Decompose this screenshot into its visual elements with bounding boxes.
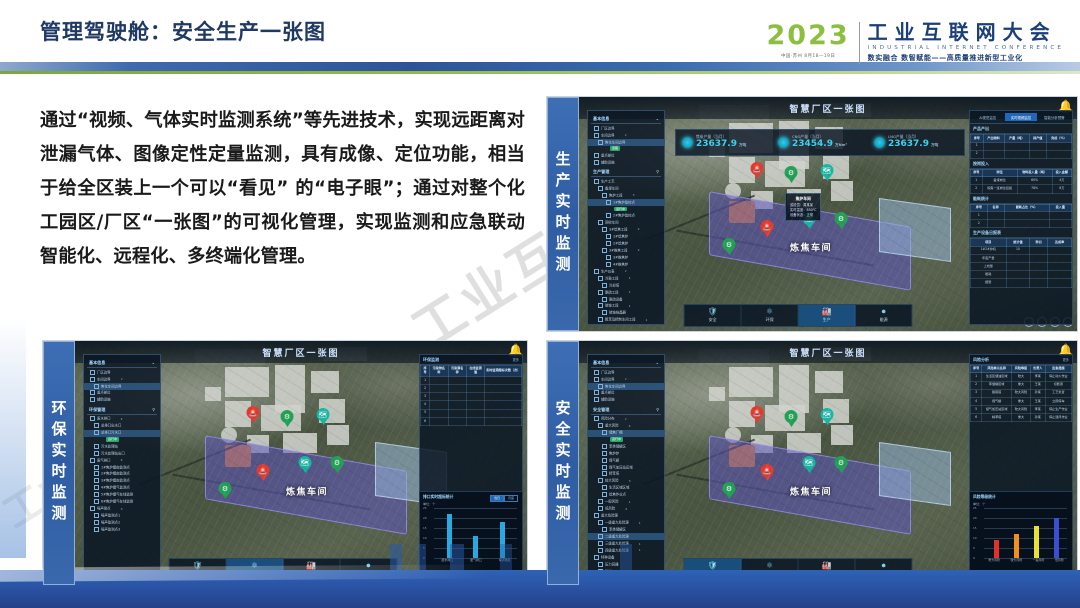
nav-item-环保[interactable]: ⚛环保 (742, 305, 799, 326)
tree-item-label: 粗苯及精制车间工段 (605, 318, 636, 322)
table-row[interactable]: 3 (421, 393, 522, 401)
panel-vertical-label: 生产实时监测 (547, 97, 579, 331)
checkbox-icon[interactable] (598, 506, 603, 511)
checkbox-icon[interactable] (598, 186, 603, 191)
checkbox-icon[interactable] (598, 384, 603, 389)
data-table: 序号污染物名称污染源名称在线监测值实时监测超标次数（次）123456 (420, 365, 522, 426)
tree-sidebar[interactable]: 基本信息⌄厂区边界车间边界∨焦化车间边界道路重点部位辅助设施生产管理⚲生产工艺备… (587, 110, 665, 325)
table-cell (1030, 254, 1048, 262)
map-marker-green[interactable]: ⚙ (835, 456, 848, 473)
checkbox-icon[interactable] (94, 444, 99, 449)
table-column-header: 昨日 (1030, 239, 1048, 246)
table-cell (987, 211, 1004, 219)
checkbox-icon[interactable] (602, 324, 607, 325)
tree-item[interactable]: 风险分布∨ (588, 416, 664, 423)
tree-item[interactable]: 冷却塔 (588, 282, 664, 289)
tree-item-label: 辅助设施 (97, 398, 111, 402)
tree-item[interactable]: 一级重大危险源1 (588, 520, 664, 527)
tree-item[interactable]: 辅助设施 (84, 397, 160, 404)
tree-item[interactable]: 1#熄焦炉 (588, 233, 664, 240)
checkbox-icon[interactable] (606, 241, 611, 246)
checkbox-icon[interactable] (598, 478, 603, 483)
tree-item[interactable]: 噪声测点3 (84, 506, 160, 513)
table-row[interactable]: 3脱硫塔较大风险孙某工艺处置 (971, 389, 1072, 397)
tree-item-label: 车间边界 (97, 377, 111, 381)
tree-item[interactable]: 苯类储罐区 (588, 527, 664, 534)
table-row[interactable]: 2 (971, 220, 1072, 228)
map-marker-icon: 🚨 (751, 162, 764, 175)
table-row[interactable]: 5 (421, 409, 522, 417)
table-row[interactable]: 1生活区储油区域较大李某停止动火作业 (971, 373, 1072, 381)
tree-item[interactable]: 2#焦炉监控点 (588, 212, 664, 219)
map-marker-green[interactable]: ⚙ (723, 482, 736, 499)
checkbox-icon[interactable] (594, 153, 599, 158)
map-marker-icon: 🗺 (299, 456, 312, 469)
tree-item[interactable]: 苯类储罐区 (588, 443, 664, 450)
table-cell (448, 376, 466, 384)
table-row[interactable]: 年度产量 (971, 254, 1072, 262)
tree-item-count: 1 (627, 276, 633, 281)
table-row[interactable]: 5煤气加压站区域较大风险李某停止生产作业 (971, 406, 1072, 414)
checkbox-icon[interactable] (594, 126, 599, 131)
nav-item-label: 安全 (709, 317, 717, 323)
chart-y-tick: 15 (973, 526, 977, 530)
kpi-value: 23454.9万Nm³ (792, 140, 847, 150)
map-marker-red[interactable]: 🚨 (247, 406, 260, 423)
panel-tab[interactable]: 实时视频监控 (1005, 113, 1036, 121)
tree-item[interactable]: 重大危险源 (588, 513, 664, 520)
kpi-card[interactable]: CNG产量（当月）23454.9万Nm³ (772, 135, 868, 149)
kpi-strip: 焦炭产量（当月）23637.9万吨CNG产量（当月）23454.9万Nm³LNG… (675, 129, 965, 156)
tree-item[interactable]: 6#焦炉烟气在线监测 (84, 499, 160, 506)
map-marker-green[interactable]: ⚙ (723, 238, 736, 255)
checkbox-icon[interactable] (94, 485, 99, 490)
tree-item[interactable]: 重点部位 (588, 152, 664, 159)
checkbox-icon[interactable] (606, 213, 611, 218)
tree-item[interactable]: 2#熄焦炉 (588, 240, 664, 247)
checkbox-icon[interactable] (602, 458, 607, 463)
checkbox-icon[interactable] (594, 416, 599, 421)
chart-plot-area: 0510152025 (973, 508, 1069, 558)
tree-item[interactable]: 低风险4 (588, 506, 664, 513)
table-column-header: 项目 (971, 239, 1007, 246)
tree-item[interactable]: 噪声监测点2 (84, 520, 160, 527)
chart-unit-label: 单位：个 (423, 501, 519, 506)
checkbox-icon[interactable] (598, 423, 603, 428)
tree-item-label: 车间边界 (601, 133, 615, 137)
checkbox-icon[interactable] (606, 262, 611, 267)
table-row[interactable]: 4煤气罐重大王某立即停车 (971, 397, 1072, 405)
map-marker-green[interactable]: ⚙ (331, 456, 344, 473)
tree-item-label: 车间边界 (601, 377, 615, 381)
tree-item[interactable]: 煤气罐 (588, 457, 664, 464)
tree-item-label: 低风险 (605, 507, 615, 511)
tree-item-label: 重大风险 (605, 424, 619, 428)
table-column-header: 序号 (971, 135, 984, 142)
more-link[interactable]: 更多 (1063, 357, 1069, 362)
bottom-nav[interactable]: 🛡安全⚛环保🏭生产⏺能源 (684, 304, 913, 327)
checkbox-icon[interactable] (94, 465, 99, 470)
tree-item-count: 2 (636, 248, 642, 253)
tree-item[interactable]: 4#焦炉烟气监测点 (84, 485, 160, 492)
search-icon[interactable]: ⚲ (656, 407, 659, 413)
table-row[interactable]: 能耗 (971, 271, 1072, 279)
checkbox-icon[interactable] (90, 370, 95, 375)
table-row[interactable]: 1#2#炉机10 (971, 246, 1072, 254)
tree-item[interactable]: 焦化车间边界 (588, 139, 664, 146)
tree-sidebar[interactable]: 基本信息⌄厂区边界车间边界∨焦化车间边界重点部位辅助设施环保管理⚲废水排口4总排… (83, 354, 161, 579)
tree-item[interactable]: 备煤车间 (588, 185, 664, 192)
tree-item-label: 污水处理站 (101, 444, 118, 448)
table-cell: 4万 (1052, 177, 1071, 185)
tree-item[interactable]: 4#推焦炉 (588, 261, 664, 268)
tree-item[interactable]: 冷鼓工段1 (588, 275, 664, 282)
tree-item[interactable]: 脱硫设备 (588, 296, 664, 303)
checkbox-icon[interactable] (594, 397, 599, 402)
tree-item[interactable]: 二级重大危险源 (588, 533, 664, 540)
tree-item[interactable]: 辅助设施 (588, 159, 664, 166)
tree-item-label: 备煤车间 (605, 186, 619, 190)
map-marker-teal[interactable]: 🗺 (803, 212, 816, 229)
checkbox-icon[interactable] (94, 513, 99, 518)
map-marker-icon: ⚙ (785, 166, 798, 179)
table-cell: 王某 (1030, 381, 1045, 389)
tree-item[interactable]: 一般风险1 (588, 499, 664, 506)
table-section-title: 产品产出 (970, 124, 1072, 134)
data-table: 项目统计值昨日达成率1#2#炉机10年度产量上线量能耗报警 (970, 238, 1072, 287)
panel-tab[interactable]: AI视觉监控 (972, 113, 1003, 121)
tree-item[interactable]: 总排口污水口 (84, 430, 160, 437)
table-row[interactable]: 上线量 (971, 263, 1072, 271)
nav-item-生产[interactable]: 🏭生产 (799, 305, 856, 326)
chart-bar[interactable] (1054, 518, 1059, 558)
tree-item[interactable]: 污水处理站出口 (84, 450, 160, 457)
checkbox-icon[interactable] (594, 370, 599, 375)
checkbox-icon[interactable] (90, 506, 95, 511)
checkbox-icon[interactable] (598, 140, 603, 145)
tree-item[interactable]: 焦炉炉 (588, 450, 664, 457)
tree-item-label: 总排口出水口 (101, 424, 121, 428)
checkbox-icon[interactable] (90, 416, 95, 421)
table-cell (485, 401, 522, 409)
table-cell: 1 (421, 376, 430, 384)
chart-bar[interactable] (1034, 526, 1039, 558)
table-cell: 煤气罐 (982, 397, 1012, 405)
tree-item[interactable]: 废气排口4 (84, 457, 160, 464)
checkbox-icon[interactable] (594, 133, 599, 138)
layers-icon (874, 137, 885, 148)
checkbox-icon[interactable] (602, 527, 607, 532)
tooltip-title: 焦炉车间 (790, 196, 816, 202)
tree-item[interactable]: 储焦厂棚 (588, 430, 664, 437)
chart-y-tick: 0 (973, 556, 975, 560)
tree-item[interactable]: 焦炉工段3 (588, 192, 664, 199)
tree-item[interactable]: 废水排口4 (84, 416, 160, 423)
checkbox-icon[interactable] (598, 534, 603, 539)
checkbox-icon[interactable] (94, 478, 99, 483)
map-marker-red[interactable]: 🚨 (751, 406, 764, 423)
tree-item-count: 4 (623, 507, 629, 512)
tree-item-label: 总排口污水口 (101, 431, 121, 435)
right-data-panel[interactable]: AI视觉监控实时视频监控智能分析预警产品产出序号产出物料产量（吨）排产值完成（%… (969, 110, 1073, 325)
table-row[interactable]: 2 (971, 150, 1072, 158)
tree-item[interactable]: 1#焦炉烟囱监测点 (84, 464, 160, 471)
table-cell (466, 409, 484, 417)
checkbox-icon[interactable] (90, 397, 95, 402)
nav-item-安全[interactable]: 🛡安全 (685, 305, 742, 326)
table-cell: 4 (421, 401, 430, 409)
map-marker-green[interactable]: ⚙ (219, 482, 232, 499)
checkbox-icon[interactable] (602, 465, 607, 470)
tree-item[interactable]: 脱硫工段1 (588, 289, 664, 296)
tree-item[interactable]: 煤气加压站区域 (588, 464, 664, 471)
tree-item[interactable]: 焦化车间边界 (84, 383, 160, 390)
checkbox-icon[interactable] (94, 471, 99, 476)
table-cell: 6万 (1052, 185, 1071, 193)
chart-range-toggle[interactable]: 当日月度 (490, 495, 518, 502)
checkbox-icon[interactable] (602, 310, 607, 315)
checkbox-icon[interactable] (598, 303, 603, 308)
map-marker-icon: 🗺 (803, 212, 816, 225)
checkbox-icon[interactable] (90, 377, 95, 382)
chart-title: 风险等级统计 (973, 494, 1069, 500)
checkbox-icon[interactable] (602, 283, 607, 288)
checkbox-icon[interactable] (94, 520, 99, 525)
checkbox-icon[interactable] (602, 430, 607, 435)
table-cell: 2 (421, 385, 430, 393)
checkbox-icon[interactable] (598, 317, 603, 322)
table-row[interactable]: 1 (421, 376, 522, 384)
table-row[interactable]: 6 (421, 417, 522, 425)
table-cell (1048, 246, 1072, 254)
chart-y-tick: 25 (423, 506, 427, 510)
tree-item-label: 1#焦炉烟囱监测点 (101, 465, 130, 469)
table-column-header: 序号 (971, 204, 988, 211)
tree-item-count: 1 (627, 290, 633, 295)
tree-section-header: 安全管理⚲ (591, 406, 661, 415)
map-marker-green[interactable]: ⚙ (835, 212, 848, 229)
checkbox-icon[interactable] (94, 451, 99, 456)
map-marker-red[interactable]: 🚨 (751, 162, 764, 179)
table-cell: 工艺处置 (1045, 389, 1071, 397)
table-cell (1006, 271, 1030, 279)
tree-item[interactable]: 3#焦炉烟囱监测点 (84, 478, 160, 485)
checkbox-icon[interactable] (594, 179, 599, 184)
tree-item[interactable]: 生产仪表∨ (588, 268, 664, 275)
tree-item-count: 3 (631, 193, 637, 198)
chart-toggle-option[interactable]: 月度 (504, 495, 518, 502)
tree-item[interactable]: 重点部位 (84, 390, 160, 397)
checkbox-icon[interactable] (94, 423, 99, 428)
checkbox-icon[interactable] (94, 384, 99, 389)
kpi-card[interactable]: LNG产量（当月）23637.9万吨 (868, 135, 964, 149)
search-icon[interactable]: ⚲ (152, 407, 155, 413)
tree-item[interactable]: 重点部位 (588, 390, 664, 397)
table-row[interactable]: 1 (971, 211, 1072, 219)
map-marker-red[interactable]: 🚨 (257, 464, 270, 481)
panel-vertical-label: 环保实时监测 (43, 341, 75, 585)
chart-y-tick: 15 (423, 526, 427, 530)
data-table: 序号产出物料产量（吨）排产值完成（%）12 (970, 134, 1072, 159)
tree-item[interactable]: 3#熄焦工段2 (588, 226, 664, 233)
tree-item[interactable]: 生活区域区域 (588, 485, 664, 492)
tree-item[interactable]: 焦化车间边界 (588, 383, 664, 390)
tree-item[interactable]: 厂区边界 (84, 369, 160, 376)
map-marker-red[interactable]: 🚨 (761, 464, 774, 481)
checkbox-icon[interactable] (602, 444, 607, 449)
table-row[interactable]: 6精苯塔重大孙某停止通风作业 (971, 414, 1072, 422)
checkbox-icon[interactable] (94, 499, 99, 504)
checkbox-icon[interactable] (90, 390, 95, 395)
table-cell (1048, 271, 1072, 279)
tree-item[interactable]: 总排口出水口 (84, 423, 160, 430)
conference-logo: 2023 中国·苏州 8月18—19日 工业互联网大会 INDUSTRIAL I… (767, 22, 1065, 66)
checkbox-icon[interactable] (90, 458, 95, 463)
tree-item-label: 焦化车间边界 (605, 384, 625, 388)
checkbox-icon[interactable] (606, 234, 611, 239)
tree-item[interactable]: 硫铵结晶器 (588, 310, 664, 317)
table-row[interactable]: 2苯储罐区域重大王某切断源 (971, 381, 1072, 389)
checkbox-icon[interactable] (594, 390, 599, 395)
logo-name-cn: 工业互联网大会 (868, 22, 1064, 43)
checkbox-icon[interactable] (598, 290, 603, 295)
map-marker-teal[interactable]: 🗺 (299, 456, 312, 473)
tree-item-label: 较大风险 (605, 479, 619, 483)
map-marker-teal[interactable]: 🗺 (821, 164, 834, 181)
checkbox-icon[interactable] (94, 430, 99, 435)
tree-item-label: 1#熄焦炉 (613, 234, 628, 238)
chart-bar[interactable] (1014, 534, 1019, 558)
map-marker-green[interactable]: ⚙ (785, 166, 798, 183)
table-row[interactable]: 1 (971, 142, 1072, 150)
kpi-card[interactable]: 焦炭产量（当月）23637.9万吨 (676, 135, 772, 149)
table-row[interactable]: 2 (421, 385, 522, 393)
checkbox-icon[interactable] (602, 297, 607, 302)
checkbox-icon[interactable] (598, 499, 603, 504)
checkbox-icon[interactable] (94, 527, 99, 532)
tree-item[interactable]: 污水处理站 (84, 443, 160, 450)
checkbox-icon[interactable] (594, 269, 599, 274)
tree-item[interactable]: 2#焦炉烟囱监测点 (84, 471, 160, 478)
tree-item[interactable]: 车间边界∨ (588, 132, 664, 139)
table-cell: 立即停车 (1045, 397, 1071, 405)
table-cell: 2 (971, 381, 982, 389)
nav-item-能源[interactable]: ⏺能源 (856, 305, 912, 326)
tree-item[interactable]: 精苯塔 (588, 471, 664, 478)
tree-item[interactable]: 粗苯管式炉监测点 (588, 324, 664, 325)
checkbox-icon[interactable] (606, 255, 611, 260)
table-column-header: 序号 (971, 366, 982, 373)
chart-bar[interactable] (994, 540, 999, 558)
map-marker-teal[interactable]: 🗺 (317, 408, 330, 425)
tree-item[interactable]: 熄焦作业点 (588, 492, 664, 499)
table-cell: 4 (971, 397, 982, 405)
tree-item[interactable]: 厂区边界 (588, 369, 664, 376)
table-cell: 1 (971, 373, 982, 381)
tree-item[interactable]: 3#推焦炉 (588, 254, 664, 261)
search-icon[interactable]: ⚲ (656, 169, 659, 175)
checkbox-icon[interactable] (606, 200, 611, 205)
table-cell: 5 (421, 409, 430, 417)
table-row[interactable]: 报警 (971, 279, 1072, 287)
tree-item[interactable]: 较大风险3 (588, 478, 664, 485)
checkbox-icon[interactable] (594, 513, 599, 518)
checkbox-icon[interactable] (602, 193, 607, 198)
tree-item-label: 3#推焦工段 (609, 248, 628, 252)
table-cell (466, 376, 484, 384)
checkbox-icon[interactable] (94, 492, 99, 497)
checkbox-icon[interactable] (602, 485, 607, 490)
table-column-header: 风险单元名称 (982, 366, 1012, 373)
map-marker-red[interactable]: 🚨 (761, 220, 774, 237)
tree-section-title: 环保管理 (89, 407, 105, 413)
map-marker-teal[interactable]: 🗺 (803, 456, 816, 473)
tree-item[interactable]: 厂区边界 (588, 125, 664, 132)
checkbox-icon[interactable] (598, 220, 603, 225)
tree-item[interactable]: 粗苯及精制车间工段1 (588, 317, 664, 324)
tree-item[interactable]: 生产工艺 (588, 178, 664, 185)
checkbox-icon[interactable] (594, 377, 599, 382)
table-row[interactable]: 4 (421, 401, 522, 409)
checkbox-icon[interactable] (602, 227, 607, 232)
checkbox-icon[interactable] (594, 160, 599, 165)
chart-unit-label: 单位：个 (973, 501, 1069, 506)
tree-item[interactable]: 辅助设施 (588, 397, 664, 404)
chart-toggle-option[interactable]: 当日 (490, 495, 504, 502)
panel-production[interactable]: 生产实时监测炼焦车间🚨⚙🗺🚨🗺⚙⚙焦炉车间巡检员：周某某实时温度：850℃设备状… (546, 96, 1078, 332)
map-marker-green[interactable]: ⚙ (785, 410, 798, 427)
table-cell: 王某 (1030, 397, 1045, 405)
panel-tabs[interactable]: AI视觉监控实时视频监控智能分析预警 (970, 111, 1072, 124)
tree-item[interactable]: 3#推焦工段2 (588, 247, 664, 254)
tree-item[interactable]: 硫铵工段1 (588, 303, 664, 310)
table-row[interactable]: 2炼焦一班岗位班组78%6万 (971, 185, 1072, 193)
table-cell: 脱硫塔 (982, 389, 1012, 397)
tree-item[interactable]: 车间边界∨ (588, 376, 664, 383)
tree-item[interactable]: 1#焦炉监控点 (588, 199, 664, 206)
tree-item[interactable]: 噪声监测点3 (84, 527, 160, 534)
tooltip-line: 设备状态：正常 (790, 213, 816, 218)
dashboard-content[interactable]: 炼焦车间🚨⚙🗺🚨🗺⚙⚙焦炉车间巡检员：周某某实时温度：850℃设备状态：正常智慧… (579, 97, 1077, 331)
tree-item[interactable]: 回收车间 (588, 219, 664, 226)
tree-item-label: 冷却塔 (609, 283, 619, 287)
chevron-down-icon: ⌄ (656, 360, 659, 366)
tree-section-header: 生产管理⚲ (591, 168, 661, 177)
tree-item-label: 焦炉工段 (609, 193, 623, 197)
checkbox-icon[interactable] (602, 471, 607, 476)
checkbox-icon[interactable] (598, 276, 603, 281)
map-marker-teal[interactable]: 🗺 (821, 408, 834, 425)
chart-y-tick: 10 (423, 536, 427, 540)
tree-item[interactable]: 重大风险4 (588, 423, 664, 430)
checkbox-icon[interactable] (598, 520, 603, 525)
table-cell: 炼焦一班岗位班组 (982, 185, 1017, 193)
tree-item-label: 6#焦炉烟气在线监测 (101, 500, 133, 504)
more-link[interactable]: 更多 (513, 357, 519, 362)
checkbox-icon[interactable] (602, 451, 607, 456)
table-row[interactable]: 1备煤岗位60%4万 (971, 177, 1072, 185)
tree-item[interactable]: 噪声监测点1 (84, 513, 160, 520)
tree-item[interactable]: 5#焦炉烟气在线监测 (84, 492, 160, 499)
checkbox-icon[interactable] (602, 492, 607, 497)
table-cell: 较大风险 (1012, 406, 1031, 414)
table-column-header: 投入金额 (1052, 169, 1071, 176)
map-marker-green[interactable]: ⚙ (281, 410, 294, 427)
zone-label: 炼焦车间 (790, 485, 832, 498)
tree-item[interactable]: 车间边界∨ (84, 376, 160, 383)
panel-tab[interactable]: 智能分析预警 (1039, 113, 1070, 121)
checkbox-icon[interactable] (602, 248, 607, 253)
